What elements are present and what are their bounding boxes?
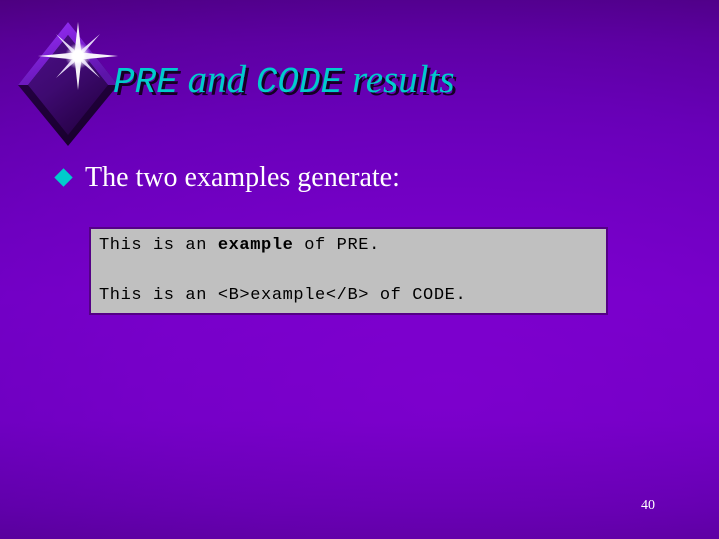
- page-number: 40: [641, 499, 655, 513]
- diamond-bullet-icon: [54, 168, 72, 186]
- slide-canvas: PRE and CODE results The two examples ge…: [0, 0, 719, 539]
- bullet-list-item: The two examples generate:: [57, 163, 400, 192]
- diamond-starburst-logo: [12, 16, 124, 148]
- code-line-1-before: This is an: [99, 236, 218, 255]
- logo-svg: [12, 16, 124, 148]
- title-part-results: results: [342, 58, 454, 101]
- code-line-1-after: of PRE.: [293, 236, 379, 255]
- code-output-box: This is an example of PRE. This is an <B…: [89, 227, 608, 315]
- code-line-1-bold: example: [218, 236, 294, 255]
- bullet-item-label: The two examples generate:: [85, 163, 400, 192]
- page-title: PRE and CODE results: [113, 60, 455, 101]
- title-part-code: CODE: [256, 62, 342, 103]
- title-part-and: and: [178, 58, 256, 101]
- code-output-line-1: This is an example of PRE.: [99, 236, 380, 255]
- code-output-line-2: This is an <B>example</B> of CODE.: [99, 286, 466, 305]
- title-part-pre: PRE: [113, 62, 178, 103]
